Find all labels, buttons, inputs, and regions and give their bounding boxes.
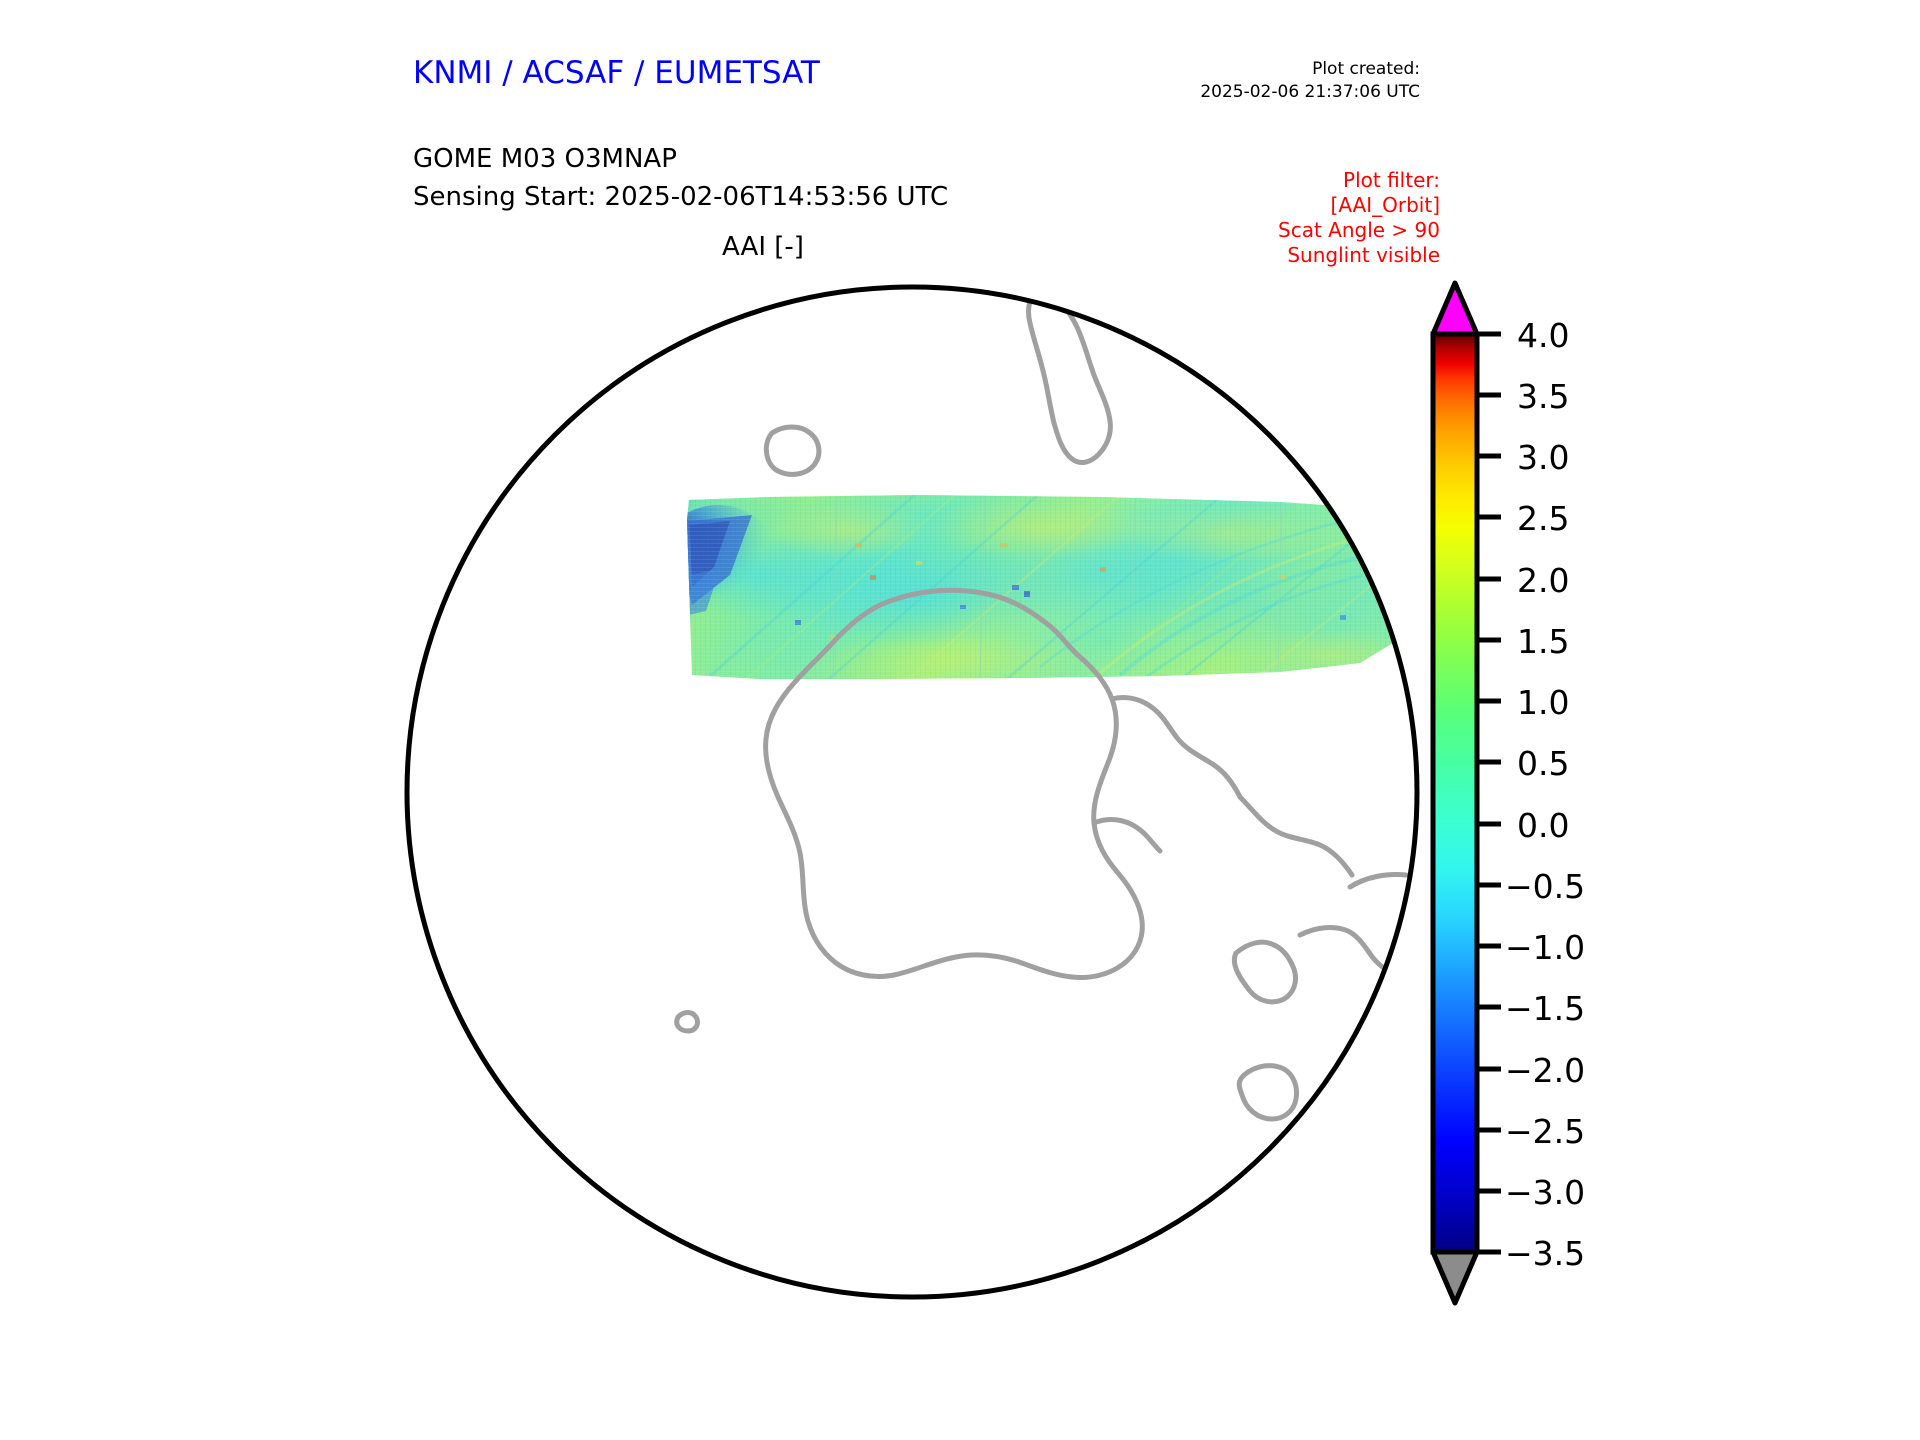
organisations-title: KNMI / ACSAF / EUMETSAT	[413, 55, 820, 91]
colorbar-tick-label: 4.0	[1517, 316, 1569, 355]
colorbar-tick-label: −1.5	[1505, 989, 1585, 1028]
colorbar-tick-label: 0.0	[1517, 806, 1569, 845]
plot-created-timestamp: 2025-02-06 21:37:06 UTC	[1100, 81, 1420, 104]
colorbar-gradient	[1433, 334, 1477, 1252]
plot-filter-scat-angle: Scat Angle > 90	[1120, 218, 1440, 243]
plot-created-block: Plot created: 2025-02-06 21:37:06 UTC	[1100, 58, 1420, 104]
colorbar-tick-label: −2.0	[1505, 1051, 1585, 1090]
globe-background	[407, 287, 1417, 1297]
colorbar-tick-label: 1.0	[1517, 683, 1569, 722]
colorbar-over-arrow	[1433, 283, 1477, 334]
colorbar-tick-label: −3.0	[1505, 1173, 1585, 1212]
colorbar-tick-label: −0.5	[1505, 867, 1585, 906]
plot-filter-block: Plot filter: [AAI_Orbit] Scat Angle > 90…	[1120, 168, 1440, 268]
colorbar-tick-label: 0.5	[1517, 744, 1569, 783]
polar-map	[400, 275, 1424, 1309]
colorbar-tick-label: 1.5	[1517, 622, 1569, 661]
colorbar-under-arrow	[1433, 1252, 1477, 1303]
colorbar-tick-label: 3.5	[1517, 377, 1569, 416]
dataset-name: GOME M03 O3MNAP	[413, 140, 948, 178]
colorbar-tick-labels: 4.0 3.5 3.0 2.5 2.0 1.5 1.0 0.5 0.0 −0.5…	[1505, 316, 1585, 1273]
colorbar-tick-label: −3.5	[1505, 1234, 1585, 1273]
colorbar-tick-label: −1.0	[1505, 928, 1585, 967]
data-swath	[660, 487, 1420, 687]
colorbar-ticks	[1477, 334, 1501, 1252]
plot-filter-label: Plot filter:	[1120, 168, 1440, 193]
sensing-start: Sensing Start: 2025-02-06T14:53:56 UTC	[413, 178, 948, 216]
colorbar-tick-label: 3.0	[1517, 438, 1569, 477]
colorbar: 4.0 3.5 3.0 2.5 2.0 1.5 1.0 0.5 0.0 −0.5…	[1425, 275, 1725, 1315]
plot-filter-sunglint: Sunglint visible	[1120, 243, 1440, 268]
colorbar-tick-label: 2.0	[1517, 561, 1569, 600]
plot-created-label: Plot created:	[1100, 58, 1420, 81]
colorbar-tick-label: 2.5	[1517, 499, 1569, 538]
plot-filter-product: [AAI_Orbit]	[1120, 193, 1440, 218]
variable-title: AAI [-]	[413, 232, 1113, 262]
colorbar-tick-label: −2.5	[1505, 1112, 1585, 1151]
dataset-info-block: GOME M03 O3MNAP Sensing Start: 2025-02-0…	[413, 140, 948, 216]
